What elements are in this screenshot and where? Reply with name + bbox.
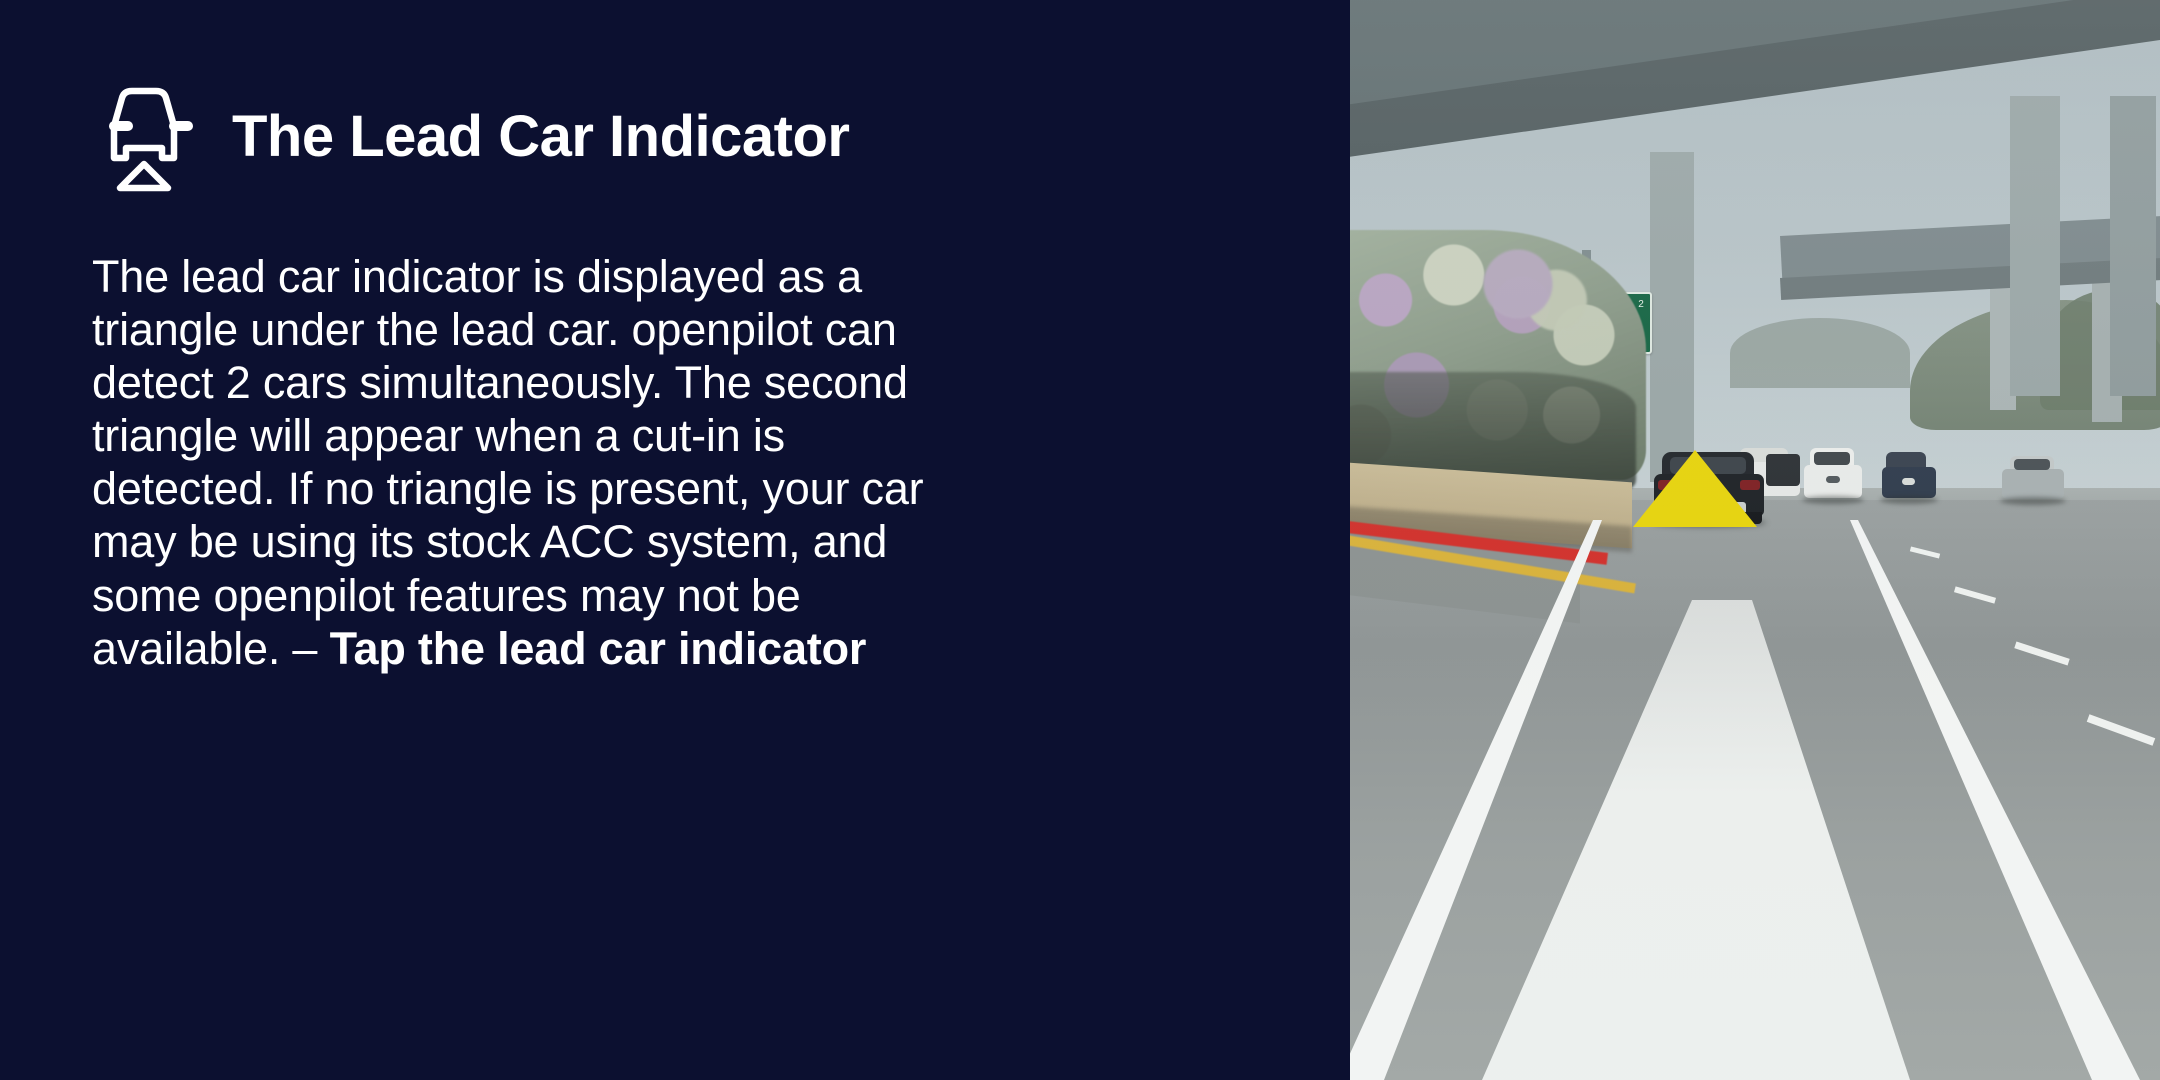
lead-car-wheel-left xyxy=(1656,512,1676,524)
blue-pickup-plate xyxy=(1902,478,1915,485)
lead-car-bumper xyxy=(1672,502,1746,515)
lead-car-taillight-left xyxy=(1658,480,1678,490)
distant-hill xyxy=(1730,318,1910,388)
predicted-path xyxy=(1350,600,2160,1080)
white-suv-shadow xyxy=(1802,496,1864,504)
page-title: The Lead Car Indicator xyxy=(232,108,849,166)
lead-car-license-plate xyxy=(1698,484,1720,494)
silver-sedan-body xyxy=(2002,469,2064,499)
white-suv xyxy=(1802,448,1864,510)
panel-header: The Lead Car Indicator xyxy=(92,82,1350,192)
car-behind-dark-vehicle xyxy=(1766,454,1800,486)
silver-sedan-shadow xyxy=(2000,497,2066,505)
blue-pickup-shadow xyxy=(1880,496,1938,504)
overpass-column-1 xyxy=(1650,152,1694,482)
silver-sedan xyxy=(2000,456,2066,512)
overpass-column-3 xyxy=(2110,96,2156,396)
lead-car xyxy=(1650,452,1768,526)
flowering-shrub xyxy=(1470,248,1590,338)
tutorial-card: The Lead Car Indicator The lead car indi… xyxy=(0,0,2160,1080)
info-panel: The Lead Car Indicator The lead car indi… xyxy=(0,0,1350,1080)
lead-car-taillight-right xyxy=(1740,480,1760,490)
predicted-path-shape xyxy=(1350,600,2160,1080)
white-suv-plate xyxy=(1826,476,1840,483)
panel-description-text: The lead car indicator is displayed as a… xyxy=(92,251,923,674)
white-suv-window xyxy=(1814,452,1850,465)
lead-car-rear-window xyxy=(1670,457,1746,474)
panel-description: The lead car indicator is displayed as a… xyxy=(92,250,924,675)
lead-car-wheel-right xyxy=(1742,512,1762,524)
panel-cta-text[interactable]: Tap the lead car indicator xyxy=(330,623,867,674)
camera-preview-image: Balboa Avenue 2 Garnet Avenue Clairemont… xyxy=(1350,0,2160,1080)
silver-sedan-window xyxy=(2014,459,2050,470)
dashed-lane-marker-1 xyxy=(1910,546,1940,558)
overpass-column-2 xyxy=(2010,96,2060,396)
lead-car-indicator-icon xyxy=(92,82,196,192)
blue-pickup xyxy=(1880,452,1938,510)
